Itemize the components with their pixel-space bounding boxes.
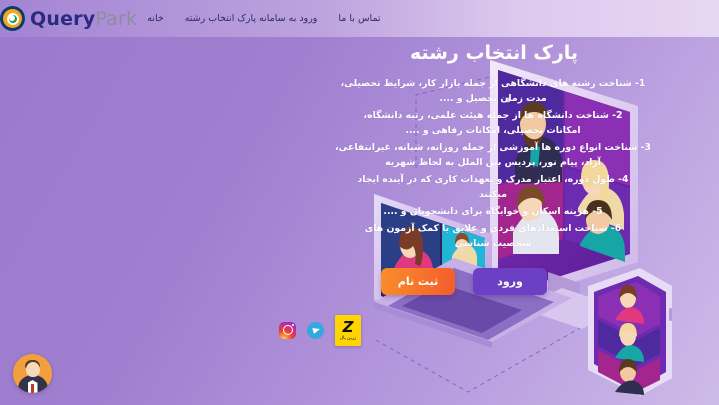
landing-page: QueryPark خانه ورود به سامانه پارک انتخا… — [0, 0, 719, 405]
list-item: 5- هزینه اسکان و خوابگاه برای دانشجویان … — [289, 204, 697, 219]
list-item: 4- طول دوره، اعتبار مدرک و تعهدات کاری ک… — [289, 172, 697, 202]
page-title: پارک انتخاب رشته — [279, 42, 719, 64]
list-item: 3- شناخت انواع دوره ها آموزشی از جمله رو… — [289, 140, 697, 170]
avatar-tie — [31, 384, 34, 393]
support-agent-avatar-icon[interactable] — [13, 354, 52, 393]
signup-button[interactable]: ثبت نام — [381, 268, 455, 295]
social-links: Z زرین پال — [279, 315, 719, 346]
brand-wordmark: QueryPark — [30, 8, 137, 30]
magnifier-lens-icon — [9, 15, 15, 21]
zarinpal-trust-badge-icon[interactable]: Z زرین پال — [335, 315, 361, 346]
zarinpal-mark: Z — [343, 320, 354, 335]
nav-enter-system[interactable]: ورود به سامانه پارک انتخاب رشته — [185, 13, 318, 24]
list-item: 2- شناخت دانشگاه ها از جمله هیئت علمی، ر… — [289, 108, 697, 138]
brand-name-primary: Query — [30, 8, 95, 30]
cta-button-group: ثبت نام ورود — [279, 268, 719, 295]
list-item: 1- شناخت رشته های دانشگاهی از جمله بازار… — [289, 76, 697, 106]
main-navigation: خانه ورود به سامانه پارک انتخاب رشته تما… — [147, 13, 380, 24]
nav-home[interactable]: خانه — [147, 13, 164, 24]
avatar-head — [26, 362, 40, 377]
site-header: QueryPark خانه ورود به سامانه پارک انتخا… — [0, 0, 719, 37]
instagram-icon[interactable] — [279, 322, 296, 339]
brand-logo[interactable]: QueryPark — [0, 6, 137, 31]
feature-list: 1- شناخت رشته های دانشگاهی از جمله بازار… — [279, 76, 719, 252]
hero-content: پارک انتخاب رشته 1- شناخت رشته های دانشگ… — [279, 37, 719, 346]
magnifier-badge-icon — [0, 6, 25, 31]
list-item: 6- شناخت استعدادهای فردی و علایق با کمک … — [289, 221, 697, 251]
login-button[interactable]: ورود — [473, 268, 547, 295]
zarinpal-label: زرین پال — [340, 336, 356, 341]
brand-name-secondary: Park — [95, 8, 137, 30]
nav-contact[interactable]: تماس با ما — [338, 13, 380, 24]
telegram-icon[interactable] — [307, 322, 324, 339]
